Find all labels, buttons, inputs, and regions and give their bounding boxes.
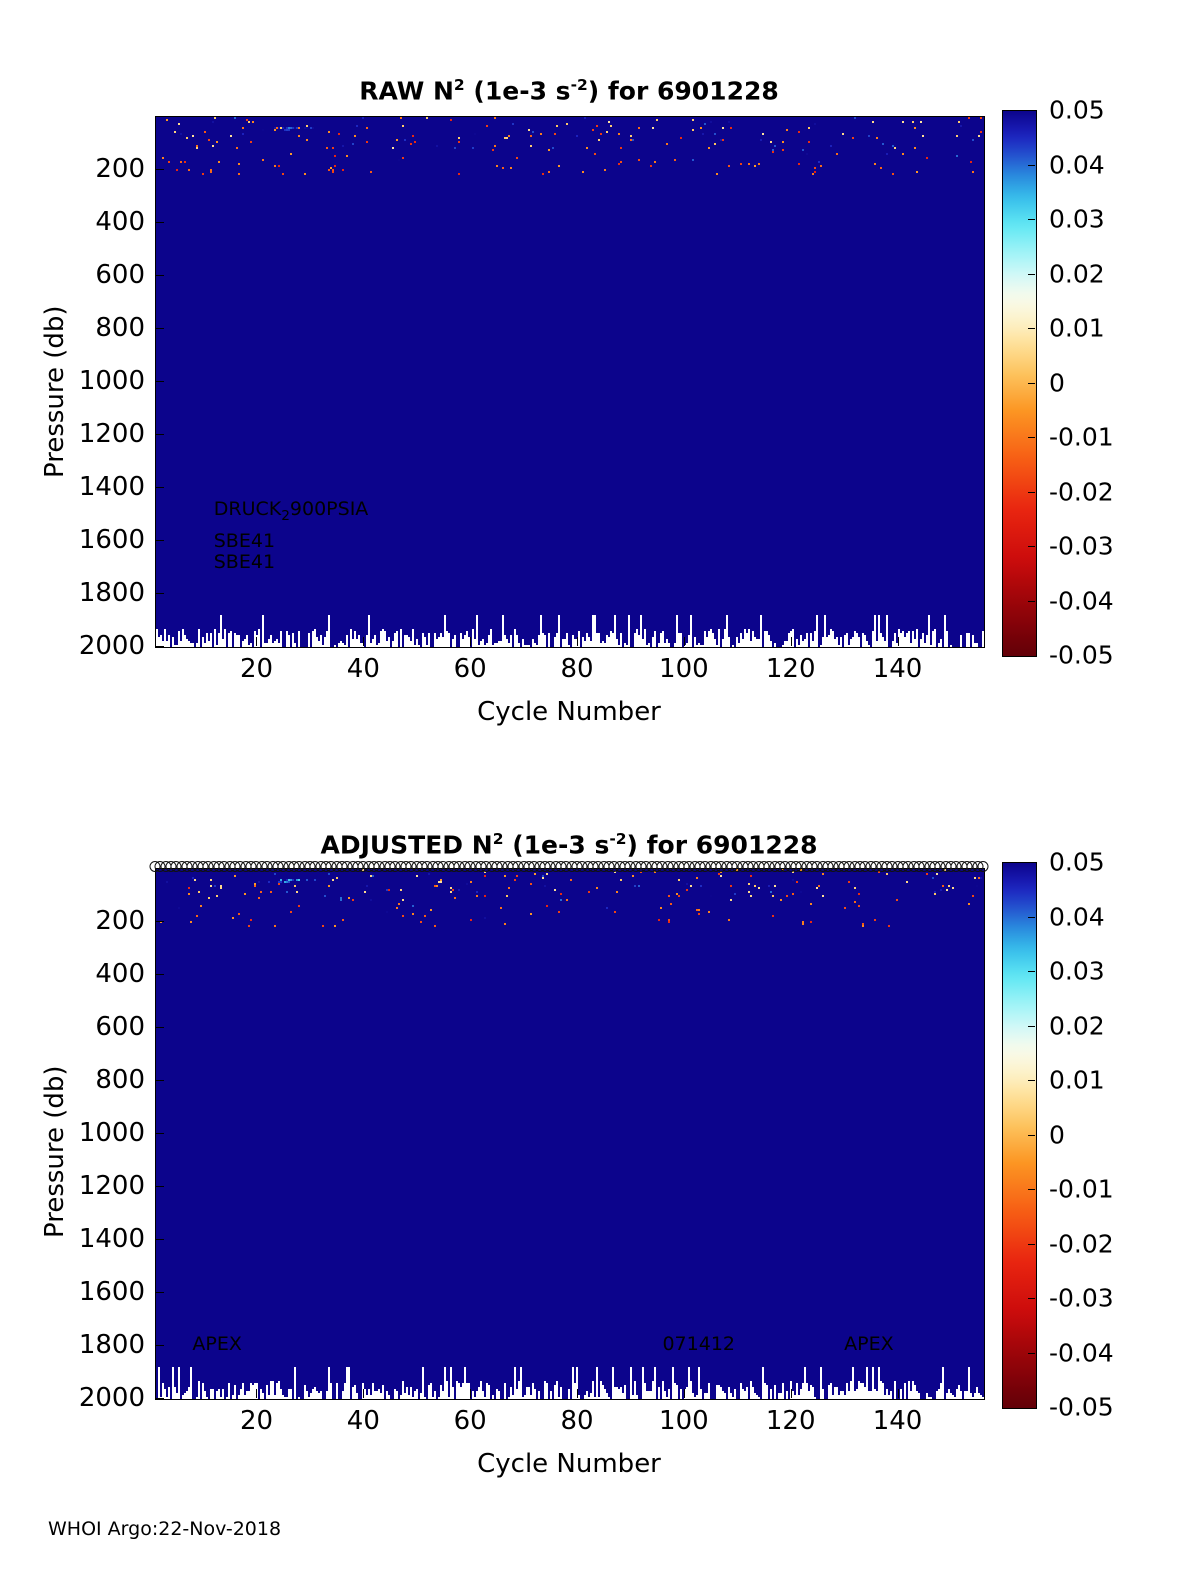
raw-axes-area	[155, 116, 985, 648]
raw-y-tick-mark	[155, 169, 164, 170]
raw-y-tick-mark	[155, 487, 164, 488]
adjusted-colorbar-tick-mark	[1028, 971, 1035, 972]
raw-x-tick-mark	[791, 637, 792, 646]
raw-colorbar-tick-label: 0	[1049, 368, 1065, 397]
raw-y-tick-label: 1600	[0, 525, 145, 555]
adjusted-colorbar-tick-label: 0.03	[1049, 957, 1105, 986]
adjusted-y-tick-label: 1800	[0, 1330, 145, 1360]
raw-heatmap-canvas	[156, 117, 984, 647]
adjusted-y-tick-mark	[155, 1239, 164, 1240]
raw-colorbar-tick-label: 0.04	[1049, 150, 1105, 179]
adjusted-colorbar-tick-label: -0.02	[1049, 1229, 1114, 1258]
adjusted-colorbar	[1002, 862, 1037, 1409]
adjusted-title-suffix: ) for 6901228	[627, 830, 818, 859]
raw-x-axis-label: Cycle Number	[155, 697, 983, 727]
adjusted-y-tick-label: 1600	[0, 1277, 145, 1307]
raw-colorbar-gradient	[1003, 111, 1036, 656]
adjusted-colorbar-tick-label: 0.05	[1049, 848, 1105, 877]
raw-annotation: SBE41	[214, 551, 275, 573]
raw-title-prefix: RAW N	[359, 76, 454, 105]
raw-y-tick-label: 1200	[0, 419, 145, 449]
raw-y-tick-mark	[155, 646, 164, 647]
adjusted-plot-title: ADJUSTED N2 (1e-3 s-2) for 6901228	[155, 830, 983, 859]
raw-title-mid: (1e-3 s	[465, 76, 571, 105]
adjusted-x-tick-label: 140	[873, 1406, 923, 1436]
raw-annotation: SBE41	[214, 530, 275, 552]
raw-colorbar-tick-label: 0.01	[1049, 314, 1105, 343]
adjusted-colorbar-tick-label: 0.01	[1049, 1066, 1105, 1095]
adjusted-y-tick-mark	[155, 1398, 164, 1399]
adjusted-title-sup-n2: 2	[493, 830, 504, 848]
adjusted-colorbar-tick-label: -0.01	[1049, 1175, 1114, 1204]
raw-y-tick-mark	[155, 381, 164, 382]
raw-annotation-text: DRUCK	[214, 498, 281, 520]
raw-y-tick-mark	[155, 275, 164, 276]
adjusted-x-tick-mark	[256, 1389, 257, 1398]
adjusted-colorbar-tick-mark	[1028, 1298, 1035, 1299]
adjusted-colorbar-tick-label: 0.02	[1049, 1011, 1105, 1040]
raw-colorbar-tick-mark	[1028, 219, 1035, 220]
raw-x-tick-label: 140	[873, 654, 923, 684]
raw-annotation: DRUCK2900PSIA	[214, 498, 369, 524]
adjusted-x-tick-mark	[577, 1389, 578, 1398]
adjusted-x-tick-mark	[684, 1389, 685, 1398]
raw-x-tick-mark	[256, 637, 257, 646]
adjusted-y-tick-mark	[155, 1292, 164, 1293]
cycle-marker	[978, 861, 989, 872]
raw-y-tick-mark	[155, 540, 164, 541]
adjusted-colorbar-tick-label: 0	[1049, 1120, 1065, 1149]
raw-colorbar-tick-mark	[1028, 601, 1035, 602]
adjusted-x-tick-label: 100	[659, 1406, 709, 1436]
adjusted-colorbar-tick-mark	[1028, 1026, 1035, 1027]
adjusted-annotation: APEX	[844, 1333, 893, 1355]
raw-colorbar-tick-label: -0.02	[1049, 477, 1114, 506]
adjusted-colorbar-tick-mark	[1028, 1080, 1035, 1081]
raw-colorbar-tick-label: 0.02	[1049, 259, 1105, 288]
raw-colorbar-tick-label: -0.03	[1049, 532, 1114, 561]
adjusted-x-tick-label: 20	[240, 1406, 273, 1436]
raw-y-tick-label: 1400	[0, 472, 145, 502]
adjusted-annotation: APEX	[192, 1333, 241, 1355]
raw-x-tick-mark	[577, 637, 578, 646]
adjusted-y-tick-label: 400	[0, 959, 145, 989]
raw-panel: RAW N2 (1e-3 s-2) for 6901228 Pressure (…	[0, 0, 1200, 760]
adjusted-x-tick-label: 40	[347, 1406, 380, 1436]
raw-colorbar-tick-mark	[1028, 274, 1035, 275]
raw-annotation-subscript: 2	[281, 508, 290, 524]
adjusted-colorbar-tick-mark	[1028, 917, 1035, 918]
adjusted-x-tick-mark	[470, 1389, 471, 1398]
raw-colorbar-tick-label: -0.01	[1049, 423, 1114, 452]
raw-colorbar-tick-mark	[1028, 437, 1035, 438]
adjusted-x-tick-label: 60	[454, 1406, 487, 1436]
adjusted-x-tick-mark	[898, 1389, 899, 1398]
adjusted-cycle-marker-row	[155, 861, 983, 875]
raw-y-tick-mark	[155, 593, 164, 594]
raw-plot-title: RAW N2 (1e-3 s-2) for 6901228	[155, 76, 983, 105]
adjusted-colorbar-tick-label: -0.03	[1049, 1284, 1114, 1313]
adjusted-x-tick-label: 80	[560, 1406, 593, 1436]
adjusted-y-tick-label: 1400	[0, 1224, 145, 1254]
adjusted-y-tick-mark	[155, 974, 164, 975]
raw-colorbar-tick-label: 0.03	[1049, 205, 1105, 234]
adjusted-colorbar-tick-mark	[1028, 1135, 1035, 1136]
raw-title-sup-n2: 2	[454, 76, 465, 94]
figure-footer: WHOI Argo:22-Nov-2018	[48, 1518, 281, 1540]
raw-colorbar-tick-label: -0.05	[1049, 641, 1114, 670]
adjusted-x-tick-mark	[791, 1389, 792, 1398]
raw-x-tick-label: 100	[659, 654, 709, 684]
adjusted-y-tick-mark	[155, 1186, 164, 1187]
raw-annotation-text-2: 900PSIA	[290, 498, 368, 520]
adjusted-y-tick-mark	[155, 1027, 164, 1028]
raw-colorbar-tick-label: 0.05	[1049, 96, 1105, 125]
raw-colorbar-tick-label: -0.04	[1049, 586, 1114, 615]
adjusted-title-mid: (1e-3 s	[503, 830, 609, 859]
adjusted-colorbar-tick-label: -0.04	[1049, 1338, 1114, 1367]
raw-x-tick-label: 20	[240, 654, 273, 684]
raw-x-tick-label: 80	[560, 654, 593, 684]
raw-y-tick-mark	[155, 434, 164, 435]
adjusted-title-prefix: ADJUSTED N	[320, 830, 492, 859]
raw-x-tick-mark	[363, 637, 364, 646]
adjusted-title-sup-s2: -2	[609, 830, 626, 848]
raw-y-tick-label: 400	[0, 207, 145, 237]
adjusted-y-tick-label: 800	[0, 1065, 145, 1095]
raw-colorbar-tick-mark	[1028, 492, 1035, 493]
raw-x-tick-mark	[684, 637, 685, 646]
adjusted-colorbar-tick-label: 0.04	[1049, 902, 1105, 931]
adjusted-annotation: 071412	[662, 1333, 735, 1355]
adjusted-y-tick-mark	[155, 921, 164, 922]
raw-y-tick-label: 200	[0, 154, 145, 184]
raw-y-tick-label: 600	[0, 260, 145, 290]
adjusted-y-tick-label: 600	[0, 1012, 145, 1042]
raw-colorbar-tick-mark	[1028, 328, 1035, 329]
raw-y-tick-mark	[155, 222, 164, 223]
adjusted-y-tick-label: 1000	[0, 1118, 145, 1148]
adjusted-y-tick-label: 1200	[0, 1171, 145, 1201]
adjusted-x-axis-label: Cycle Number	[155, 1449, 983, 1479]
adjusted-colorbar-tick-mark	[1028, 1244, 1035, 1245]
raw-x-tick-label: 40	[347, 654, 380, 684]
adjusted-y-tick-label: 2000	[0, 1383, 145, 1413]
raw-y-tick-label: 1800	[0, 578, 145, 608]
adjusted-x-tick-mark	[363, 1389, 364, 1398]
raw-colorbar-tick-mark	[1028, 546, 1035, 547]
raw-title-sup-s2: -2	[571, 76, 588, 94]
adjusted-x-tick-label: 120	[766, 1406, 816, 1436]
raw-y-tick-label: 1000	[0, 366, 145, 396]
adjusted-y-tick-mark	[155, 1345, 164, 1346]
adjusted-heatmap-canvas	[156, 869, 984, 1399]
adjusted-colorbar-tick-mark	[1028, 1189, 1035, 1190]
adjusted-axes-area	[155, 868, 985, 1400]
adjusted-y-tick-label: 200	[0, 906, 145, 936]
raw-colorbar-tick-mark	[1028, 383, 1035, 384]
adjusted-y-tick-mark	[155, 1133, 164, 1134]
raw-title-suffix: ) for 6901228	[588, 76, 779, 105]
adjusted-colorbar-gradient	[1003, 863, 1036, 1408]
raw-y-tick-label: 2000	[0, 631, 145, 661]
raw-x-tick-label: 120	[766, 654, 816, 684]
raw-colorbar	[1002, 110, 1037, 657]
adjusted-colorbar-tick-mark	[1028, 1353, 1035, 1354]
raw-y-tick-label: 800	[0, 313, 145, 343]
raw-x-tick-mark	[898, 637, 899, 646]
adjusted-y-tick-mark	[155, 1080, 164, 1081]
adjusted-panel: ADJUSTED N2 (1e-3 s-2) for 6901228 Press…	[0, 760, 1200, 1520]
raw-x-tick-mark	[470, 637, 471, 646]
raw-y-tick-mark	[155, 328, 164, 329]
raw-x-tick-label: 60	[454, 654, 487, 684]
adjusted-colorbar-tick-label: -0.05	[1049, 1393, 1114, 1422]
raw-colorbar-tick-mark	[1028, 165, 1035, 166]
